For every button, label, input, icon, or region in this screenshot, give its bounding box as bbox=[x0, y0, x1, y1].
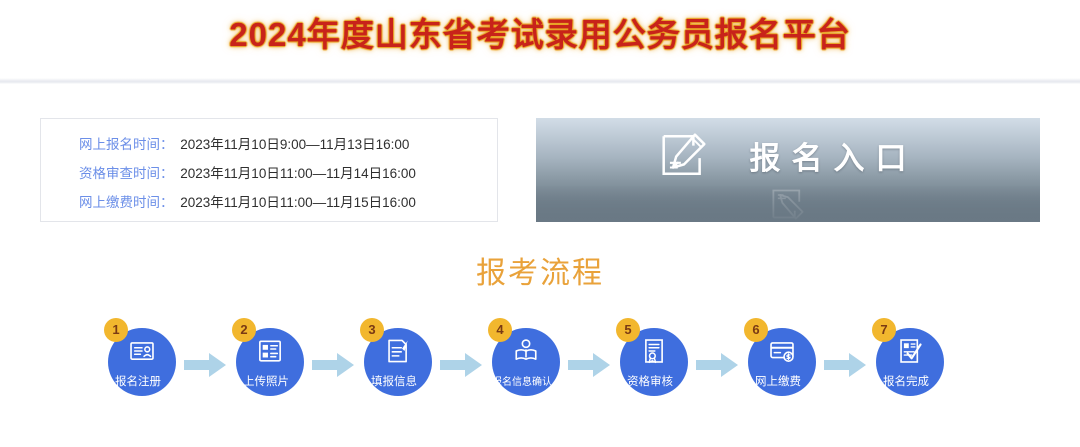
person-reading-icon bbox=[513, 338, 539, 364]
flow-step-label: 网上缴费 bbox=[730, 376, 826, 389]
flow-step-label: 填报信息 bbox=[346, 376, 442, 389]
form-pen-icon bbox=[385, 338, 411, 364]
schedule-row: 资格审查时间： 2023年11月10日11:00—11月14日16:00 bbox=[79, 159, 497, 188]
registration-flow: 1 报名注册 2 上传照片 3 bbox=[104, 318, 984, 428]
pencil-document-reflection-icon bbox=[763, 186, 813, 222]
flow-arrow-icon bbox=[178, 318, 232, 422]
flow-step-badge: 4 bbox=[488, 318, 512, 342]
document-check-icon bbox=[897, 338, 923, 364]
header-divider bbox=[0, 78, 1080, 84]
flow-step-badge: 6 bbox=[744, 318, 768, 342]
flow-step-6[interactable]: 6 网上缴费 bbox=[744, 318, 818, 422]
credit-card-dollar-icon bbox=[769, 338, 795, 364]
flow-step-label: 报名信息确认 bbox=[474, 376, 570, 389]
schedule-info-box: 网上报名时间： 2023年11月10日9:00—11月13日16:00 资格审查… bbox=[40, 118, 498, 222]
flow-arrow-icon bbox=[434, 318, 488, 422]
entrance-reflection bbox=[536, 186, 1040, 222]
flow-arrow-icon bbox=[690, 318, 744, 422]
flow-arrow-icon bbox=[306, 318, 360, 422]
flow-step-badge: 1 bbox=[104, 318, 128, 342]
schedule-value: 2023年11月10日11:00—11月15日16:00 bbox=[180, 195, 416, 210]
schedule-value: 2023年11月10日9:00—11月13日16:00 bbox=[180, 137, 409, 152]
schedule-label: 资格审查时间： bbox=[79, 166, 174, 181]
flow-step-badge: 2 bbox=[232, 318, 256, 342]
flow-step-1[interactable]: 1 报名注册 bbox=[104, 318, 178, 422]
flow-step-7[interactable]: 7 报名完成 bbox=[872, 318, 946, 422]
certificate-seal-icon bbox=[641, 338, 667, 364]
flow-step-5[interactable]: 5 资格审核 bbox=[616, 318, 690, 422]
registration-entrance-button[interactable]: 报名入口 bbox=[536, 118, 1040, 222]
flow-step-label: 资格审核 bbox=[602, 376, 698, 389]
flow-arrow-icon bbox=[562, 318, 616, 422]
flow-step-badge: 3 bbox=[360, 318, 384, 342]
flow-step-3[interactable]: 3 填报信息 bbox=[360, 318, 434, 422]
flow-step-2[interactable]: 2 上传照片 bbox=[232, 318, 306, 422]
id-card-icon bbox=[129, 338, 155, 364]
schedule-label: 网上报名时间： bbox=[79, 137, 174, 152]
entrance-label: 报名入口 bbox=[739, 133, 918, 178]
flow-step-badge: 7 bbox=[872, 318, 896, 342]
entrance-content: 报名入口 bbox=[536, 130, 1040, 180]
page-title: 2024年度山东省考试录用公务员报名平台 bbox=[0, 8, 1080, 56]
schedule-row: 网上报名时间： 2023年11月10日9:00—11月13日16:00 bbox=[79, 130, 497, 159]
flow-arrow-icon bbox=[818, 318, 872, 422]
flow-step-badge: 5 bbox=[616, 318, 640, 342]
schedule-label: 网上缴费时间： bbox=[79, 195, 174, 210]
flow-step-label: 报名完成 bbox=[858, 376, 954, 389]
pencil-document-icon bbox=[659, 130, 709, 180]
flow-step-label: 报名注册 bbox=[90, 376, 186, 389]
schedule-row: 网上缴费时间： 2023年11月10日11:00—11月15日16:00 bbox=[79, 188, 497, 217]
flow-step-label: 上传照片 bbox=[218, 376, 314, 389]
flow-section-title: 报考流程 bbox=[0, 248, 1080, 292]
photo-list-icon bbox=[257, 338, 283, 364]
page-header: 2024年度山东省考试录用公务员报名平台 bbox=[0, 0, 1080, 78]
flow-step-4[interactable]: 4 报名信息确认 bbox=[488, 318, 562, 422]
schedule-value: 2023年11月10日11:00—11月14日16:00 bbox=[180, 166, 416, 181]
